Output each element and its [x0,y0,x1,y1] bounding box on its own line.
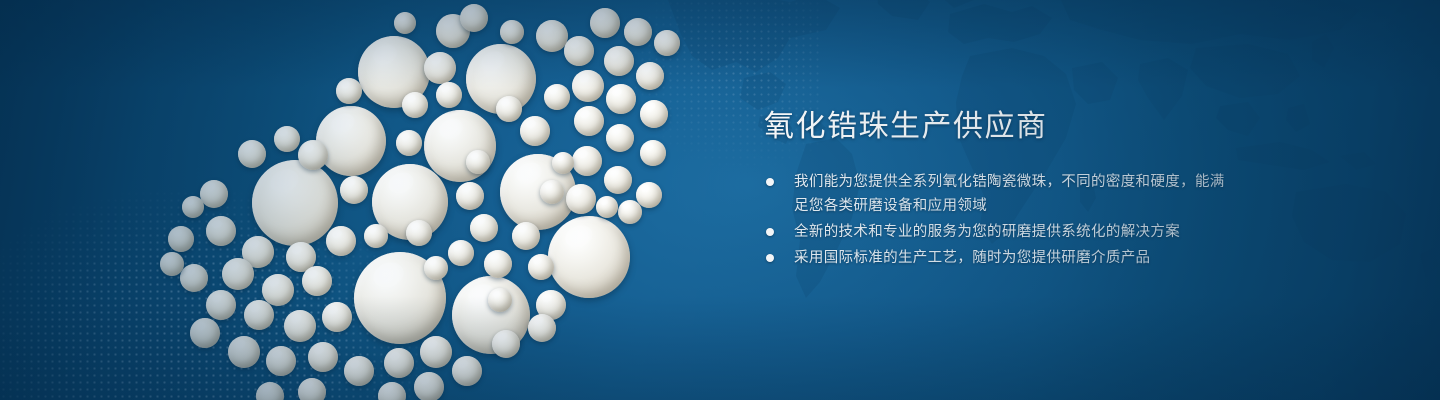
hero-banner: 氧化锆珠生产供应商 我们能为您提供全系列氧化锆陶瓷微珠，不同的密度和硬度，能满足… [0,0,1440,400]
list-item: 我们能为您提供全系列氧化锆陶瓷微珠，不同的密度和硬度，能满足您各类研磨设备和应用… [764,170,1234,218]
page-title: 氧化锆珠生产供应商 [764,108,1234,146]
bullet-dot-icon [766,254,774,262]
feature-list: 我们能为您提供全系列氧化锆陶瓷微珠，不同的密度和硬度，能满足您各类研磨设备和应用… [764,170,1234,270]
list-item-label: 采用国际标准的生产工艺，随时为您提供研磨介质产品 [794,250,1150,266]
list-item-label: 我们能为您提供全系列氧化锆陶瓷微珠，不同的密度和硬度，能满足您各类研磨设备和应用… [794,174,1225,214]
list-item: 全新的技术和专业的服务为您的研磨提供系统化的解决方案 [764,220,1234,244]
bullet-dot-icon [766,228,774,236]
bullet-dot-icon [766,178,774,186]
list-item-label: 全新的技术和专业的服务为您的研磨提供系统化的解决方案 [794,224,1180,240]
list-item: 采用国际标准的生产工艺，随时为您提供研磨介质产品 [764,246,1234,270]
banner-copy: 氧化锆珠生产供应商 我们能为您提供全系列氧化锆陶瓷微珠，不同的密度和硬度，能满足… [764,108,1234,272]
zirconia-beads-image [0,0,760,400]
